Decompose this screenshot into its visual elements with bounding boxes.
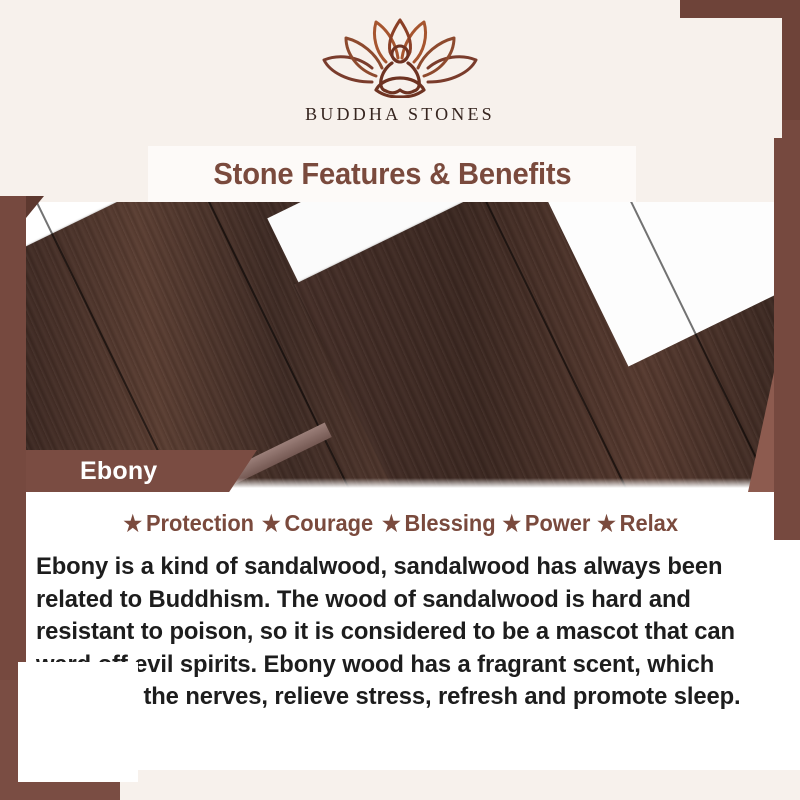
stone-description: Ebony is a kind of sandalwood, sandalwoo…: [36, 551, 742, 714]
product-photo: [0, 200, 800, 488]
title-banner: Stone Features & Benefits: [148, 146, 636, 202]
stone-name-banner: Ebony: [25, 450, 257, 492]
page-title: Stone Features & Benefits: [213, 156, 571, 192]
stone-name: Ebony: [80, 457, 157, 486]
benefit-item-power: ★ Power: [502, 510, 590, 537]
benefit-item-relax: ★ Relax: [597, 510, 678, 537]
benefit-item-blessing: ★ Blessing: [381, 510, 495, 537]
star-icon: ★: [123, 513, 142, 535]
benefit-label: Protection: [146, 510, 254, 537]
benefit-label: Blessing: [404, 510, 495, 537]
corner-decoration-top-right: [680, 0, 800, 120]
lotus-meditation-figure-icon: [318, 16, 482, 98]
star-icon: ★: [381, 513, 400, 535]
right-frame-band: [774, 120, 800, 540]
benefit-item-courage: ★ Courage: [262, 510, 373, 537]
star-icon: ★: [597, 513, 616, 535]
title-banner-left-filler: [0, 146, 148, 202]
benefit-label: Power: [525, 510, 591, 537]
corner-decoration-bottom-left: [0, 680, 120, 800]
star-icon: ★: [262, 513, 281, 535]
benefits-row: ★ Protection ★ Courage ★ Blessing ★ Powe…: [0, 488, 800, 537]
brand-name: BUDDHA STONES: [305, 104, 495, 125]
benefit-label: Courage: [285, 510, 374, 537]
star-icon: ★: [502, 513, 521, 535]
benefit-label: Relax: [620, 510, 678, 537]
benefit-item-protection: ★ Protection: [123, 510, 254, 537]
infographic-page: BUDDHA STONES Stone Features & Benefits …: [0, 0, 800, 800]
